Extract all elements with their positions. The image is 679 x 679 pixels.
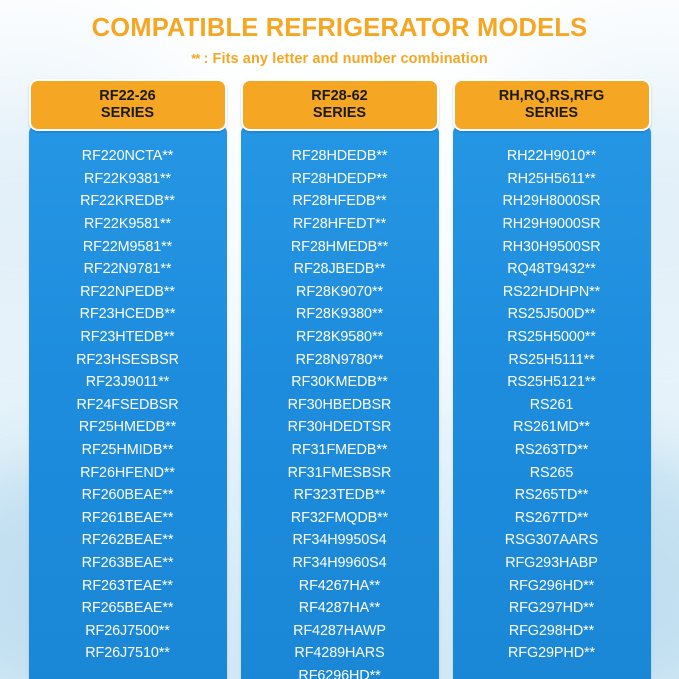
list-item: RF26J7500** (33, 620, 223, 643)
list-item: RF4287HAWP (245, 620, 435, 643)
list-item: RSG307AARS (457, 529, 647, 552)
column-header-1-line1: RF22-26 (35, 88, 221, 105)
list-item: RF26J7510** (33, 642, 223, 665)
list-item: RF22M9581** (33, 236, 223, 259)
list-item: RF220NCTA** (33, 145, 223, 168)
page-subtitle-text: : Fits any letter and number combination (199, 51, 488, 67)
page-title: COMPATIBLE REFRIGERATOR MODELS (0, 0, 679, 42)
list-item: RF24FSEDBSR (33, 394, 223, 417)
list-item: RFG298HD** (457, 620, 647, 643)
list-item: RH29H8000SR (457, 190, 647, 213)
column-header-2-line1: RF28-62 (247, 88, 433, 105)
list-item: RF23J9011** (33, 371, 223, 394)
list-item: RF263TEAE** (33, 575, 223, 598)
list-item: RF25HMIDB** (33, 439, 223, 462)
model-column-3: RH,RQ,RS,RFG SERIES RH22H9010** RH25H561… (453, 79, 651, 679)
list-item: RS25H5121** (457, 371, 647, 394)
column-body-3: RH22H9010** RH25H5611** RH29H8000SR RH29… (453, 127, 651, 679)
column-body-2: RF28HDEDB** RF28HDEDP** RF28HFEDB** RF28… (241, 127, 439, 679)
list-item: RS265 (457, 462, 647, 485)
list-item: RS261MD** (457, 416, 647, 439)
list-item: RS22HDHPN** (457, 281, 647, 304)
list-item: RS263TD** (457, 439, 647, 462)
list-item: RF260BEAE** (33, 484, 223, 507)
list-item: RF30HDEDTSR (245, 416, 435, 439)
list-item: RF28N9780** (245, 349, 435, 372)
list-item: RF31FMEDB** (245, 439, 435, 462)
list-item: RF262BEAE** (33, 529, 223, 552)
list-item: RF323TEDB** (245, 484, 435, 507)
content-wrapper: COMPATIBLE REFRIGERATOR MODELS ** : Fits… (0, 0, 679, 679)
page-subtitle: ** : Fits any letter and number combinat… (0, 42, 679, 67)
model-column-2: RF28-62 SERIES RF28HDEDB** RF28HDEDP** R… (241, 79, 439, 679)
list-item: RS261 (457, 394, 647, 417)
list-item: RF23HCEDB** (33, 303, 223, 326)
list-item: RFG293HABP (457, 552, 647, 575)
list-item: RF34H9960S4 (245, 552, 435, 575)
list-item: RF25HMEDB** (33, 416, 223, 439)
list-item: RF23HTEDB** (33, 326, 223, 349)
list-item: RS25J500D** (457, 303, 647, 326)
list-item: RF28HFEDB** (245, 190, 435, 213)
list-item: RFG297HD** (457, 597, 647, 620)
list-item: RF28HDEDB** (245, 145, 435, 168)
list-item: RFG296HD** (457, 575, 647, 598)
list-item: RF28HMEDB** (245, 236, 435, 259)
list-item: RF31FMESBSR (245, 462, 435, 485)
list-item: RF30HBEDBSR (245, 394, 435, 417)
list-item: RQ48T9432** (457, 258, 647, 281)
column-header-3-line1: RH,RQ,RS,RFG (459, 88, 645, 105)
list-item: RF26HFEND** (33, 462, 223, 485)
list-item: RF22KREDB** (33, 190, 223, 213)
list-item: RH25H5611** (457, 168, 647, 191)
list-item: RS267TD** (457, 507, 647, 530)
list-item: RF32FMQDB** (245, 507, 435, 530)
list-item: RF28K9380** (245, 303, 435, 326)
list-item: RF22K9581** (33, 213, 223, 236)
model-column-1: RF22-26 SERIES RF220NCTA** RF22K9381** R… (29, 79, 227, 679)
list-item: RH29H9000SR (457, 213, 647, 236)
list-item: RF6296HD** (245, 665, 435, 679)
column-header-1-line2: SERIES (35, 105, 221, 122)
page-root: COMPATIBLE REFRIGERATOR MODELS ** : Fits… (0, 0, 679, 679)
column-header-2-line2: SERIES (247, 105, 433, 122)
list-item: RS25H5111** (457, 349, 647, 372)
model-columns: RF22-26 SERIES RF220NCTA** RF22K9381** R… (0, 67, 679, 679)
list-item: RF28HDEDP** (245, 168, 435, 191)
list-item: RS25H5000** (457, 326, 647, 349)
column-header-3-line2: SERIES (459, 105, 645, 122)
list-item: RF261BEAE** (33, 507, 223, 530)
list-item: RF265BEAE** (33, 597, 223, 620)
list-item: RF4267HA** (245, 575, 435, 598)
list-item: RF34H9950S4 (245, 529, 435, 552)
list-item: RF22K9381** (33, 168, 223, 191)
list-item: RH22H9010** (457, 145, 647, 168)
list-item: RF30KMEDB** (245, 371, 435, 394)
column-header-1: RF22-26 SERIES (29, 79, 227, 131)
list-item: RF23HSESBSR (33, 349, 223, 372)
list-item: RF28K9580** (245, 326, 435, 349)
list-item: RF28K9070** (245, 281, 435, 304)
list-item: RF28HFEDT** (245, 213, 435, 236)
column-header-3: RH,RQ,RS,RFG SERIES (453, 79, 651, 131)
list-item: RFG29PHD** (457, 642, 647, 665)
list-item: RF263BEAE** (33, 552, 223, 575)
list-item: RF22NPEDB** (33, 281, 223, 304)
list-item: RF4289HARS (245, 642, 435, 665)
list-item: RF22N9781** (33, 258, 223, 281)
list-item: RS265TD** (457, 484, 647, 507)
column-header-2: RF28-62 SERIES (241, 79, 439, 131)
list-item: RF28JBEDB** (245, 258, 435, 281)
list-item: RF4287HA** (245, 597, 435, 620)
column-body-1: RF220NCTA** RF22K9381** RF22KREDB** RF22… (29, 127, 227, 679)
list-item: RH30H9500SR (457, 236, 647, 259)
